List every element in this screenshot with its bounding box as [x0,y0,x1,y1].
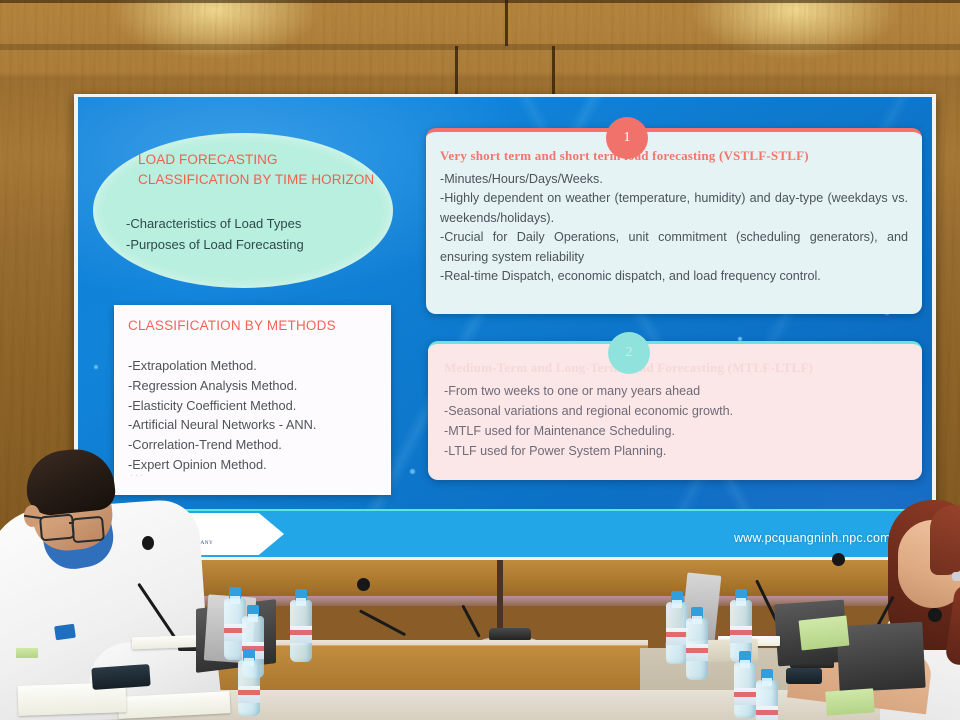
woman-hair-front [930,505,960,575]
bottle-neck [230,596,240,604]
microphone-capsule [142,536,154,550]
bottle-label-stripe [730,630,752,635]
microphone-capsule [832,553,845,566]
panel-2-line: -LTLF used for Power System Planning. [444,441,908,461]
green-document [799,616,850,651]
bottle-neck [248,614,258,622]
water-bottle [756,680,778,720]
water-bottle [686,618,708,680]
wall-band-mid [0,44,960,50]
sparkle-dot [410,469,415,474]
panel-1-line: -Real-time Dispatch, economic dispatch, … [440,267,908,286]
oval-item: -Characteristics of Load Types [126,213,392,234]
bottle-label-stripe [734,692,756,697]
bottle-neck [296,598,306,606]
glasses-left-lens [39,514,75,542]
classification-by-methods-box: CLASSIFICATION BY METHODS -Extrapolation… [114,305,391,495]
methods-item: -Elasticity Coefficient Method. [128,396,383,416]
bottle-label-stripe [238,690,260,695]
methods-item: -Artificial Neural Networks - ANN. [128,415,383,435]
panel-2-line: -Seasonal variations and regional econom… [444,401,908,421]
microphone-base [489,628,531,640]
methods-box-title: CLASSIFICATION BY METHODS [128,318,336,333]
panel-1-number-badge: 1 [606,117,648,159]
glasses-bridge [69,522,74,524]
bottle-label-stripe [666,632,688,637]
bottle-neck [672,600,682,608]
bottle-neck [692,616,702,624]
panel-1-line: -Crucial for Daily Operations, unit comm… [440,228,908,267]
panel-1-line: -Minutes/Hours/Days/Weeks. [440,170,908,189]
methods-item: -Regression Analysis Method. [128,376,383,396]
forecast-panel-1: Very short term and short term load fore… [426,128,922,314]
screenshot-stage: LOAD FORECASTING CLASSIFICATION BY TIME … [0,0,960,720]
bottle-label-stripe [756,710,778,715]
oval-item: -Purposes of Load Forecasting [126,234,392,255]
methods-trailing-ellipsis: ... [130,467,145,479]
bottle-label-stripe [686,648,708,653]
oval-title: LOAD FORECASTING CLASSIFICATION BY TIME … [138,150,378,190]
methods-item: -Correlation-Trend Method. [128,435,383,455]
presentation-slide: LOAD FORECASTING CLASSIFICATION BY TIME … [78,97,932,557]
bottle-neck [736,598,746,606]
bottle-neck [244,658,254,666]
microphone-capsule [928,608,942,622]
water-bottle [666,602,688,664]
wall-band-upper [0,0,960,3]
methods-item-list: -Extrapolation Method. -Regression Analy… [128,356,383,475]
desk-phone [91,664,150,690]
oval-item-list: -Characteristics of Load Types -Purposes… [126,213,392,255]
water-bottle [734,662,756,718]
wall-seam-upper [505,0,508,46]
green-document [825,688,875,715]
desk-device [786,668,822,684]
footer-website-url: www.pcquangninh.npc.com.vn [734,531,908,545]
bottle-neck [762,678,772,686]
green-document [16,648,38,658]
microphone-gooseneck [461,605,481,638]
sparkle-dot [94,365,98,369]
microphone-capsule [357,578,370,591]
glasses-right-lens [71,516,105,544]
laptop-screen [836,622,925,692]
bottle-neck [740,660,750,668]
panel-2-line: -MTLF used for Maintenance Scheduling. [444,421,908,441]
panel-1-body: -Minutes/Hours/Days/Weeks. -Highly depen… [440,170,908,286]
panel-2-number-badge: 2 [608,332,650,374]
microphone-gooseneck [359,609,406,636]
panel-2-body: -From two weeks to one or many years ahe… [444,381,908,461]
panel-1-line: -Highly dependent on weather (temperatur… [440,189,908,228]
water-bottle [238,660,260,716]
bottle-label-stripe [290,630,312,635]
water-bottle [290,600,312,662]
methods-item: -Extrapolation Method. [128,356,383,376]
man-shirt-logo [54,624,76,641]
panel-2-line: -From two weeks to one or many years ahe… [444,381,908,401]
forecast-panel-2: Medium-Term and Long-Term Load Forecasti… [428,341,922,480]
hair-clip [952,572,960,581]
methods-item: -Expert Opinion Method. [128,455,383,475]
